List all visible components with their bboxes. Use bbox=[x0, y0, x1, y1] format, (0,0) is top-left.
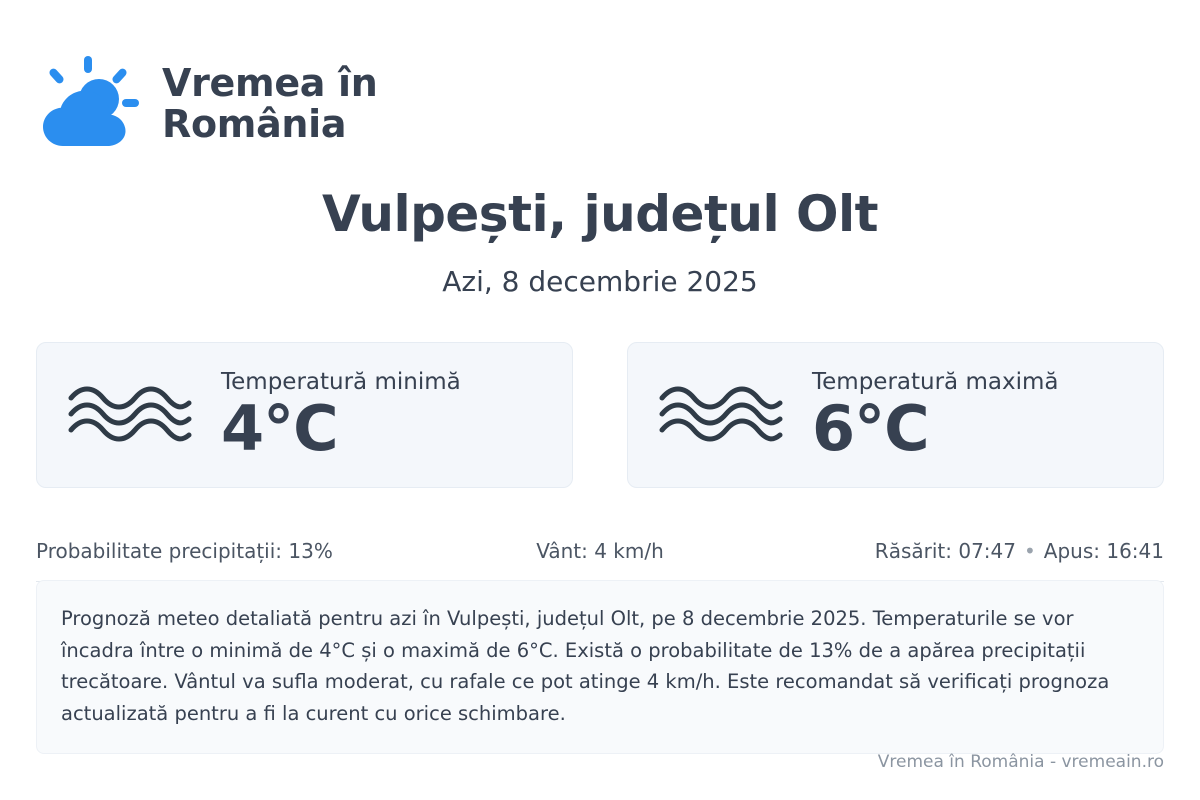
forecast-description: Prognoză meteo detaliată pentru azi în V… bbox=[36, 580, 1164, 754]
min-temperature-text: Temperatură minimă 4°C bbox=[221, 369, 461, 460]
forecast-date: Azi, 8 decembrie 2025 bbox=[0, 265, 1200, 298]
max-temperature-card: Temperatură maximă 6°C bbox=[627, 342, 1164, 488]
temperature-cards: Temperatură minimă 4°C Temperatură maxim… bbox=[36, 342, 1164, 488]
precipitation-stat: Probabilitate precipitații: 13% bbox=[36, 539, 412, 563]
max-temperature-text: Temperatură maximă 6°C bbox=[812, 369, 1058, 460]
brand-title: Vremea în România bbox=[162, 63, 378, 145]
sun-cloud-icon bbox=[36, 52, 144, 156]
min-temperature-card: Temperatură minimă 4°C bbox=[36, 342, 573, 488]
sunrise-value: Răsărit: 07:47 bbox=[875, 539, 1016, 563]
weather-stats-row: Probabilitate precipitații: 13% Vânt: 4 … bbox=[36, 520, 1164, 582]
page-title: Vulpești, județul Olt bbox=[0, 185, 1200, 243]
max-temperature-value: 6°C bbox=[812, 397, 1058, 460]
brand-header: Vremea în România bbox=[36, 52, 378, 156]
weather-page: Vremea în România Vulpești, județul Olt … bbox=[0, 0, 1200, 800]
waves-icon bbox=[656, 378, 786, 452]
site-footer: Vremea în România - vremeain.ro bbox=[878, 752, 1164, 772]
sun-times-stat: Răsărit: 07:47•Apus: 16:41 bbox=[788, 539, 1164, 563]
stat-separator: • bbox=[1016, 539, 1044, 563]
sunset-value: Apus: 16:41 bbox=[1044, 539, 1164, 563]
waves-icon bbox=[65, 378, 195, 452]
min-temperature-value: 4°C bbox=[221, 397, 461, 460]
wind-stat: Vânt: 4 km/h bbox=[412, 539, 788, 563]
